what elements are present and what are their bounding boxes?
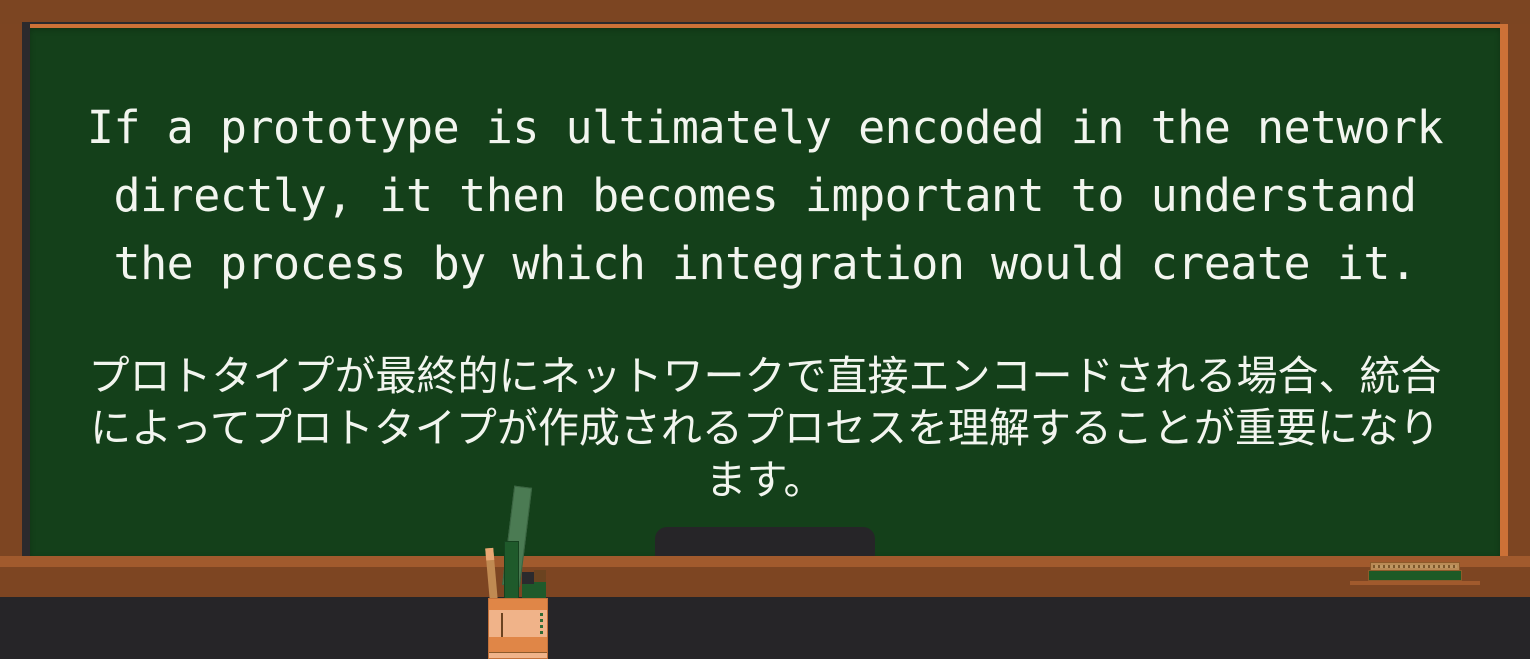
chair-lower-mask xyxy=(655,597,875,659)
pencil xyxy=(485,548,498,603)
chalk-tray-highlight xyxy=(0,556,1530,567)
chalkboard-surface: If a prototype is ultimately encoded in … xyxy=(30,28,1500,556)
eraser-body xyxy=(1368,570,1462,581)
board-text-container: If a prototype is ultimately encoded in … xyxy=(30,28,1500,556)
brush-ferrule xyxy=(534,570,546,582)
paint-brush xyxy=(534,570,546,600)
frame-top-edge xyxy=(0,0,1530,24)
chalkboard-scene: If a prototype is ultimately encoded in … xyxy=(0,0,1530,659)
green-marker xyxy=(504,541,519,603)
cup-stripe xyxy=(501,613,503,637)
brush-ferrule xyxy=(522,572,534,584)
cup-rim xyxy=(489,599,547,610)
cup-foot xyxy=(489,652,547,658)
pencil-tip xyxy=(485,548,494,561)
eraser-tray-shadow xyxy=(1350,581,1480,585)
pencil-cup-assembly xyxy=(488,486,550,659)
pencil-cup xyxy=(488,598,548,659)
chalk-tray-body xyxy=(0,567,1530,597)
eraser xyxy=(1368,562,1462,582)
quote-english: If a prototype is ultimately encoded in … xyxy=(85,94,1445,298)
cup-side-detail xyxy=(540,613,543,637)
quote-japanese: プロトタイプが最終的にネットワークで直接エンコードされる場合、統合によってプロト… xyxy=(85,350,1445,506)
